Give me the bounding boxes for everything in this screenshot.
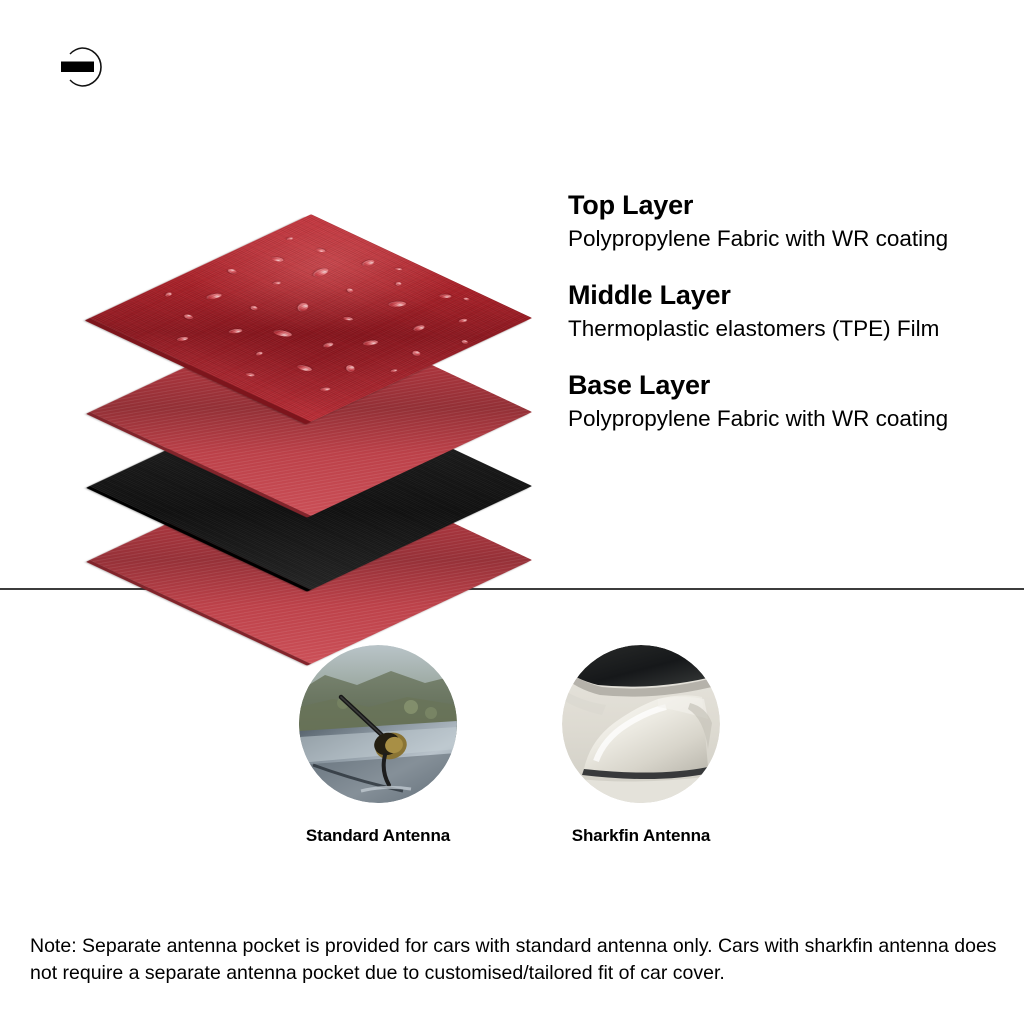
water-droplet	[164, 292, 172, 297]
water-droplet	[395, 282, 401, 286]
antenna-pocket-note: Note: Separate antenna pocket is provide…	[30, 933, 1002, 988]
water-droplet	[411, 324, 426, 331]
antenna-option-standard: Standard Antenna	[278, 645, 478, 846]
layer-description-top: Polypropylene Fabric with WR coating	[568, 225, 998, 252]
water-droplet	[439, 294, 452, 298]
water-droplet	[315, 248, 327, 253]
water-droplet	[310, 267, 331, 278]
water-droplet	[362, 339, 380, 346]
layer-heading-middle: Middle Layer	[568, 280, 998, 312]
antenna-option-sharkfin: Sharkfin Antenna	[541, 645, 741, 846]
water-droplet	[388, 301, 407, 307]
layer-info-middle: Middle Layer Thermoplastic elastomers (T…	[568, 280, 998, 342]
water-droplet	[182, 314, 195, 320]
water-droplet	[346, 365, 356, 372]
water-droplet	[360, 259, 377, 267]
water-droplet	[226, 268, 239, 274]
water-droplet-group	[311, 214, 532, 318]
water-droplet	[320, 387, 331, 391]
water-droplet	[457, 318, 468, 323]
water-droplet	[321, 342, 335, 348]
water-droplet	[295, 364, 314, 372]
water-droplet	[272, 329, 294, 338]
water-droplet	[272, 281, 282, 285]
brand-logo	[52, 42, 108, 92]
layer-info-base: Base Layer Polypropylene Fabric with WR …	[568, 370, 998, 432]
layer-description-base: Polypropylene Fabric with WR coating	[568, 405, 998, 432]
water-droplet	[389, 369, 398, 373]
sharkfin-antenna-photo	[562, 645, 720, 803]
water-droplet	[342, 316, 354, 321]
antenna-label-standard: Standard Antenna	[278, 826, 478, 846]
layer-info-top: Top Layer Polypropylene Fabric with WR c…	[568, 190, 998, 252]
water-droplet	[394, 268, 402, 271]
water-droplet	[228, 328, 244, 334]
water-droplet	[255, 351, 264, 356]
water-droplet	[346, 288, 354, 293]
layer-description-middle: Thermoplastic elastomers (TPE) Film	[568, 315, 998, 342]
water-droplet	[286, 237, 294, 241]
water-droplet	[250, 306, 259, 311]
water-droplet	[270, 256, 285, 263]
layer-heading-top: Top Layer	[568, 190, 998, 222]
standard-antenna-photo	[299, 645, 457, 803]
water-droplet	[175, 336, 189, 342]
water-droplet	[296, 302, 309, 311]
layer-stack-diagram	[66, 140, 556, 520]
water-droplet	[205, 293, 224, 301]
water-droplet	[411, 350, 421, 356]
water-droplet	[460, 340, 468, 345]
water-droplet	[244, 372, 255, 377]
water-droplet	[463, 297, 471, 301]
antenna-label-sharkfin: Sharkfin Antenna	[541, 826, 741, 846]
layer-heading-base: Base Layer	[568, 370, 998, 402]
